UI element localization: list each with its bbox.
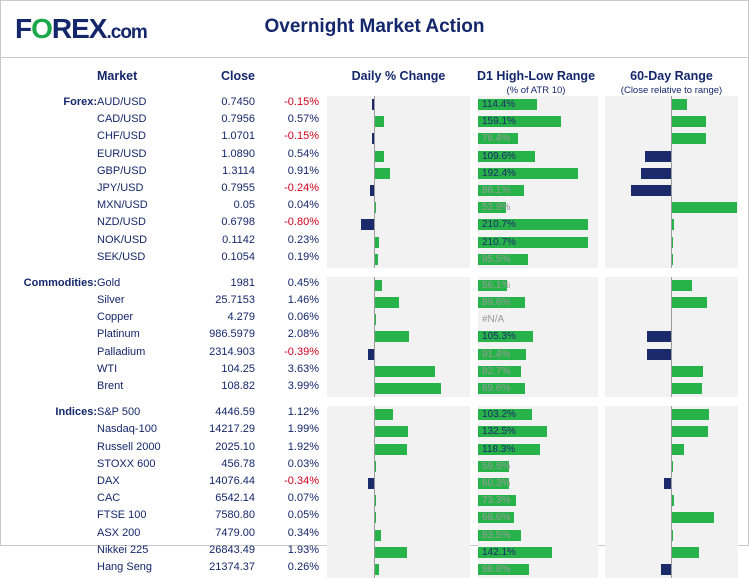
atr-label: 52.9% (482, 202, 510, 213)
atr-label: 192.4% (482, 168, 516, 179)
daily-pct-bar (372, 99, 374, 110)
sixty-day-bar (672, 409, 709, 420)
table-row: Hang Seng21374.370.26%98.8% (1, 561, 748, 578)
pct-change-value: 1.93% (263, 544, 319, 556)
atr-label: 103.2% (482, 409, 516, 420)
sixty-day-panel (605, 148, 738, 165)
close-value: 456.78 (173, 458, 255, 470)
sixty-day-bar (672, 461, 673, 472)
daily-pct-bar (375, 151, 384, 162)
header-d1-subtitle: (% of ATR 10) (456, 85, 616, 96)
daily-pct-bar (368, 349, 374, 360)
sixty-day-bar (672, 512, 714, 523)
zero-line (671, 148, 672, 165)
sixty-day-bar (672, 495, 674, 506)
daily-pct-panel (327, 277, 470, 294)
daily-pct-panel (327, 346, 470, 363)
pct-change-value: 2.08% (263, 328, 319, 340)
pct-change-value: 0.04% (263, 199, 319, 211)
atr-label: 95.5% (482, 254, 510, 265)
pct-change-value: 0.07% (263, 492, 319, 504)
zero-line (671, 165, 672, 182)
header-close: Close (173, 69, 255, 83)
daily-pct-panel (327, 406, 470, 423)
atr-label: 109.6% (482, 151, 516, 162)
sixty-day-panel (605, 165, 738, 182)
zero-line (374, 475, 375, 492)
group-spacer (1, 397, 748, 406)
sixty-day-bar (672, 426, 708, 437)
close-value: 4.279 (173, 311, 255, 323)
atr-label: 89.6% (482, 297, 510, 308)
sixty-day-bar (664, 478, 671, 489)
close-value: 7580.80 (173, 509, 255, 521)
close-value: 4446.59 (173, 406, 255, 418)
header-60day-subtitle: (Close relative to range) (605, 85, 738, 96)
pct-change-value: 1.99% (263, 423, 319, 435)
zero-line (671, 346, 672, 363)
daily-pct-panel (327, 311, 470, 328)
market-table: Forex:AUD/USD0.7450-0.15%114.4%CAD/USD0.… (1, 96, 748, 578)
sixty-day-bar (672, 254, 673, 265)
pct-change-value: -0.80% (263, 216, 319, 228)
pct-change-value: 0.03% (263, 458, 319, 470)
table-row: NOK/USD0.11420.23%210.7% (1, 234, 748, 251)
header-daily-pct-change: Daily % Change (327, 69, 470, 83)
atr-label: 82.7% (482, 366, 510, 377)
atr-label: 56.1% (482, 280, 510, 291)
table-row: FTSE 1007580.800.05%68.6% (1, 509, 748, 526)
sixty-day-bar (661, 564, 671, 575)
pct-change-value: 0.34% (263, 527, 319, 539)
zero-line (671, 182, 672, 199)
zero-line (374, 182, 375, 199)
table-row: GBP/USD1.31140.91%192.4% (1, 165, 748, 182)
close-value: 0.1142 (173, 234, 255, 246)
sixty-day-bar (672, 297, 707, 308)
daily-pct-bar (375, 426, 408, 437)
daily-pct-bar (375, 331, 409, 342)
atr-label: 73.3% (482, 495, 510, 506)
header-60day-range: 60-Day Range (605, 69, 738, 83)
table-row: Commodities:Gold19810.45%56.1% (1, 277, 748, 294)
atr-label: 88.1% (482, 185, 510, 196)
atr-label: 60.3% (482, 478, 510, 489)
pct-change-value: 0.91% (263, 165, 319, 177)
daily-pct-bar (375, 444, 407, 455)
daily-pct-panel (327, 561, 470, 578)
close-value: 25.7153 (173, 294, 255, 306)
sixty-day-bar (647, 331, 671, 342)
group-spacer (1, 268, 748, 277)
sixty-day-bar (672, 530, 673, 541)
daily-pct-bar (375, 254, 378, 265)
atr-label: 89.6% (482, 383, 510, 394)
atr-label: 114.4% (482, 99, 515, 110)
table-row: Russell 20002025.101.92%118.3% (1, 441, 748, 458)
atr-label: 76.4% (482, 133, 510, 144)
daily-pct-bar (361, 219, 374, 230)
daily-pct-bar (375, 237, 379, 248)
sixty-day-panel (605, 475, 738, 492)
atr-label: 105.3% (482, 331, 516, 342)
atr-label: 142.1% (482, 547, 516, 558)
atr-label: #N/A (482, 314, 504, 325)
table-row: EUR/USD1.08900.54%109.6% (1, 148, 748, 165)
pct-change-value: 0.05% (263, 509, 319, 521)
daily-pct-bar (375, 409, 393, 420)
pct-change-value: 0.54% (263, 148, 319, 160)
close-value: 2025.10 (173, 441, 255, 453)
table-row: MXN/USD0.050.04%52.9% (1, 199, 748, 216)
sixty-day-panel (605, 182, 738, 199)
atr-label: 83.5% (482, 530, 510, 541)
close-value: 7479.00 (173, 527, 255, 539)
group-label: Forex: (13, 96, 97, 108)
table-row: SEK/USD0.10540.19%95.5% (1, 251, 748, 268)
sixty-day-bar (641, 168, 671, 179)
close-value: 986.5979 (173, 328, 255, 340)
table-row: JPY/USD0.7955-0.24%88.1% (1, 182, 748, 199)
close-value: 14217.29 (173, 423, 255, 435)
table-row: Brent108.823.99%89.6% (1, 380, 748, 397)
close-value: 0.1054 (173, 251, 255, 263)
sixty-day-panel (605, 311, 738, 328)
zero-line (374, 216, 375, 233)
table-row: Forex:AUD/USD0.7450-0.15%114.4% (1, 96, 748, 113)
table-row: CHF/USD1.0701-0.15%76.4% (1, 130, 748, 147)
daily-pct-panel (327, 458, 470, 475)
pct-change-value: 1.12% (263, 406, 319, 418)
close-value: 0.7956 (173, 113, 255, 125)
sixty-day-bar (672, 547, 699, 558)
atr-label: 118.3% (482, 444, 515, 455)
table-row: DAX14076.44-0.34%60.3% (1, 475, 748, 492)
daily-pct-panel (327, 216, 470, 233)
pct-change-value: 0.26% (263, 561, 319, 573)
atr-label: 59.5% (482, 461, 510, 472)
close-value: 104.25 (173, 363, 255, 375)
daily-pct-panel (327, 492, 470, 509)
pct-change-value: 1.46% (263, 294, 319, 306)
table-row: Platinum986.59792.08%105.3% (1, 328, 748, 345)
daily-pct-bar (375, 280, 382, 291)
sixty-day-panel (605, 561, 738, 578)
atr-label: 159.1% (482, 116, 516, 127)
zero-line (374, 96, 375, 113)
close-value: 0.7450 (173, 96, 255, 108)
sixty-day-bar (672, 116, 706, 127)
sixty-day-bar (672, 366, 703, 377)
daily-pct-bar (370, 185, 374, 196)
table-row: ASX 2007479.000.34%83.5% (1, 527, 748, 544)
daily-pct-bar (368, 478, 374, 489)
atr-label: 98.8% (482, 564, 510, 575)
atr-label: 68.6% (482, 512, 510, 523)
daily-pct-bar (375, 564, 379, 575)
table-row: Copper4.2790.06%#N/A (1, 311, 748, 328)
pct-change-value: 1.92% (263, 441, 319, 453)
table-row: STOXX 600456.780.03%59.5% (1, 458, 748, 475)
daily-pct-bar (375, 116, 384, 127)
table-row: Silver25.71531.46%89.6% (1, 294, 748, 311)
pct-change-value: -0.39% (263, 346, 319, 358)
close-value: 0.6798 (173, 216, 255, 228)
group-label: Indices: (13, 406, 97, 418)
close-value: 6542.14 (173, 492, 255, 504)
close-value: 1981 (173, 277, 255, 289)
daily-pct-panel (327, 165, 470, 182)
daily-pct-panel (327, 130, 470, 147)
daily-pct-panel (327, 527, 470, 544)
zero-line (671, 561, 672, 578)
zero-line (374, 130, 375, 147)
table-row: WTI104.253.63%82.7% (1, 363, 748, 380)
daily-pct-bar (375, 495, 376, 506)
close-value: 108.82 (173, 380, 255, 392)
atr-label: 210.7% (482, 237, 516, 248)
daily-pct-bar (375, 202, 376, 213)
table-row: CAD/USD0.79560.57%159.1% (1, 113, 748, 130)
close-value: 0.7955 (173, 182, 255, 194)
pct-change-value: 0.57% (263, 113, 319, 125)
pct-change-value: 0.06% (263, 311, 319, 323)
close-value: 2314.903 (173, 346, 255, 358)
daily-pct-panel (327, 113, 470, 130)
table-row: CAC6542.140.07%73.3% (1, 492, 748, 509)
close-value: 14076.44 (173, 475, 255, 487)
column-headers: Market Close Daily % Change D1 High-Low … (1, 58, 748, 96)
report-header: FOREX.com Overnight Market Action (1, 1, 748, 58)
daily-pct-bar (372, 133, 374, 144)
header-d1-high-low-range: D1 High-Low Range (456, 69, 616, 83)
zero-line (374, 346, 375, 363)
daily-pct-panel (327, 199, 470, 216)
atr-label: 132.5% (482, 426, 516, 437)
sixty-day-bar (672, 133, 706, 144)
pct-change-value: 3.99% (263, 380, 319, 392)
table-row: Palladium2314.903-0.39%91.4% (1, 346, 748, 363)
sixty-day-bar (631, 185, 671, 196)
pct-change-value: -0.24% (263, 182, 319, 194)
daily-pct-bar (375, 314, 376, 325)
sixty-day-bar (672, 237, 673, 248)
pct-change-value: -0.15% (263, 96, 319, 108)
pct-change-value: 0.23% (263, 234, 319, 246)
close-value: 1.3114 (173, 165, 255, 177)
pct-change-value: 3.63% (263, 363, 319, 375)
pct-change-value: -0.34% (263, 475, 319, 487)
daily-pct-bar (375, 530, 381, 541)
zero-line (671, 475, 672, 492)
daily-pct-panel (327, 251, 470, 268)
daily-pct-panel (327, 96, 470, 113)
daily-pct-bar (375, 512, 376, 523)
daily-pct-panel (327, 234, 470, 251)
daily-pct-bar (375, 168, 390, 179)
close-value: 26843.49 (173, 544, 255, 556)
close-value: 1.0701 (173, 130, 255, 142)
sixty-day-bar (672, 280, 692, 291)
group-label: Commodities: (13, 277, 97, 289)
sixty-day-panel (605, 328, 738, 345)
daily-pct-panel (327, 148, 470, 165)
sixty-day-bar (672, 99, 687, 110)
table-row: NZD/USD0.6798-0.80%210.7% (1, 216, 748, 233)
close-value: 0.05 (173, 199, 255, 211)
pct-change-value: 0.19% (263, 251, 319, 263)
daily-pct-bar (375, 383, 441, 394)
close-value: 21374.37 (173, 561, 255, 573)
zero-line (671, 328, 672, 345)
sixty-day-bar (645, 151, 671, 162)
table-row: Nikkei 22526843.491.93%142.1% (1, 544, 748, 561)
atr-label: 210.7% (482, 219, 516, 230)
close-value: 1.0890 (173, 148, 255, 160)
sixty-day-bar (647, 349, 671, 360)
pct-change-value: 0.45% (263, 277, 319, 289)
sixty-day-bar (672, 444, 684, 455)
table-row: Nasdaq-10014217.291.99%132.5% (1, 423, 748, 440)
header-market: Market (97, 69, 137, 83)
page-title: Overnight Market Action (1, 16, 748, 38)
sixty-day-bar (672, 202, 737, 213)
sixty-day-bar (672, 383, 702, 394)
daily-pct-bar (375, 297, 399, 308)
daily-pct-bar (375, 366, 435, 377)
daily-pct-panel (327, 182, 470, 199)
pct-change-value: -0.15% (263, 130, 319, 142)
market-action-report: FOREX.com Overnight Market Action Market… (0, 0, 749, 546)
daily-pct-bar (375, 547, 407, 558)
zero-line (671, 311, 672, 328)
atr-label: 91.4% (482, 349, 510, 360)
daily-pct-panel (327, 475, 470, 492)
sixty-day-panel (605, 346, 738, 363)
sixty-day-bar (672, 219, 674, 230)
daily-pct-panel (327, 509, 470, 526)
table-row: Indices:S&P 5004446.591.12%103.2% (1, 406, 748, 423)
